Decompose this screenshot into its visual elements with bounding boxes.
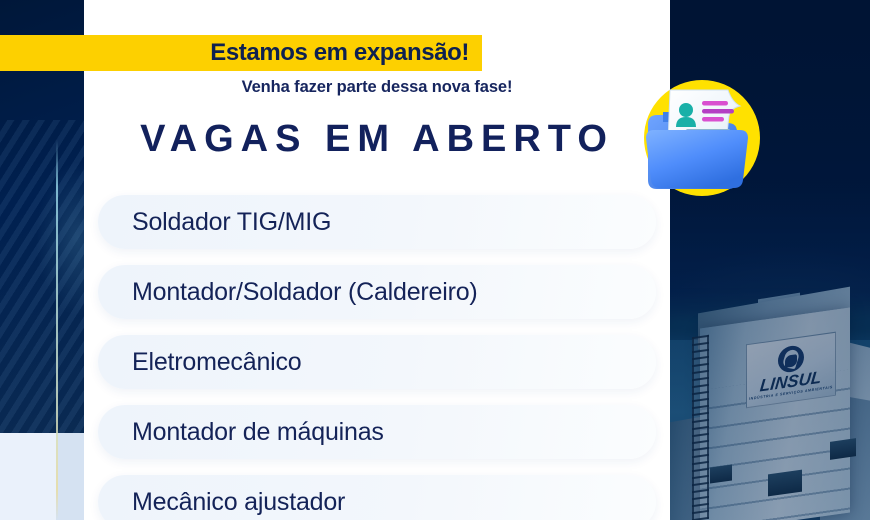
building-window: [830, 438, 856, 460]
job-list: Soldador TIG/MIG Montador/Soldador (Cald…: [98, 195, 656, 520]
poster-headline: VAGAS EM ABERTO: [84, 118, 670, 161]
job-title: Mecânico ajustador: [132, 488, 345, 517]
linsul-logo-sign: LINSUL INDÚSTRIA E SERVIÇOS AMBIENTAIS: [746, 332, 836, 409]
building-ladder: [692, 335, 709, 520]
building-window: [710, 464, 732, 483]
job-pill[interactable]: Montador/Soldador (Caldereiro): [98, 265, 656, 319]
job-pill[interactable]: Eletromecânico: [98, 335, 656, 389]
job-title: Montador de máquinas: [132, 418, 384, 447]
job-pill[interactable]: Soldador TIG/MIG: [98, 195, 656, 249]
folder-documents-icon: [636, 72, 766, 204]
expansion-banner: Estamos em expansão!: [0, 35, 482, 71]
expansion-banner-text: Estamos em expansão!: [210, 39, 469, 67]
job-pill[interactable]: Mecânico ajustador: [98, 475, 656, 520]
job-title: Soldador TIG/MIG: [132, 208, 331, 237]
job-vacancy-poster: LINSUL INDÚSTRIA E SERVIÇOS AMBIENTAIS E…: [0, 0, 870, 520]
bottom-left-light-fill-strip: [56, 433, 84, 520]
linsul-mark-icon: [778, 344, 804, 374]
vertical-light-streak: [56, 140, 58, 520]
panel-glow: [22, 155, 84, 365]
job-title: Eletromecânico: [132, 348, 302, 377]
job-pill[interactable]: Montador de máquinas: [98, 405, 656, 459]
job-title: Montador/Soldador (Caldereiro): [132, 278, 478, 307]
poster-subtitle: Venha fazer parte dessa nova fase!: [84, 78, 670, 97]
